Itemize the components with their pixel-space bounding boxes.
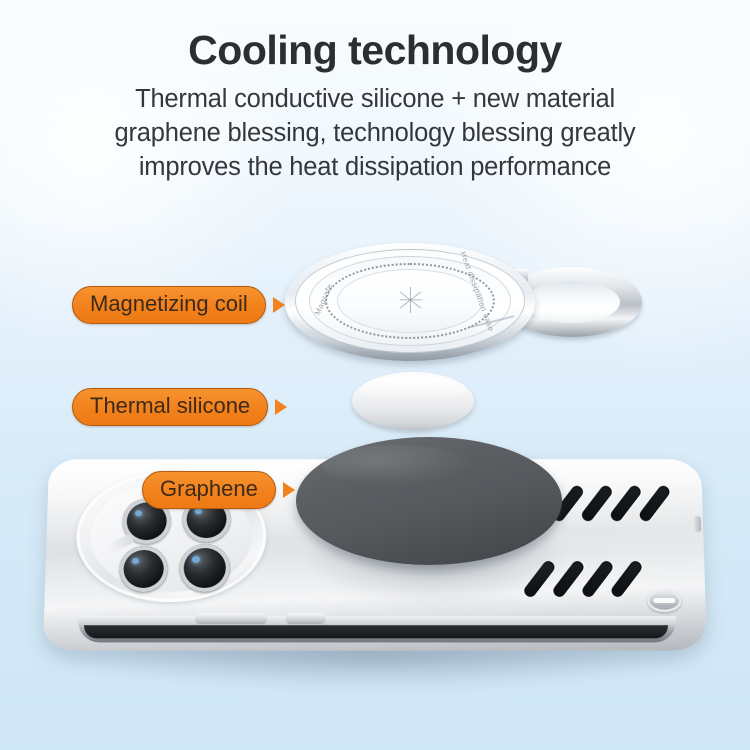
- power-button: [285, 613, 325, 624]
- vent-row-top: [562, 483, 661, 524]
- page-subtitle: Thermal conductive silicone + new materi…: [0, 83, 750, 185]
- pointer-triangle-right-icon: [275, 399, 287, 415]
- page-title: Cooling technology: [0, 26, 750, 74]
- subtitle-line-3: improves the heat dissipation performanc…: [32, 151, 718, 185]
- camera-lens-4: [179, 544, 230, 592]
- pointer-triangle-right-icon: [273, 297, 285, 313]
- case-side-nub: [694, 516, 701, 532]
- magsafe-ring-module: Magsafe Heat dissipation case: [285, 243, 640, 363]
- speaker-cutout: [647, 590, 682, 612]
- magsafe-disc: Magsafe Heat dissipation case: [285, 243, 535, 361]
- vent-slot: [580, 559, 615, 600]
- vent-slot: [609, 559, 644, 600]
- camera-lens-3: [119, 546, 168, 592]
- pointer-triangle-right-icon: [283, 482, 295, 498]
- subtitle-line-2: graphene blessing, technology blessing g…: [32, 117, 718, 151]
- volume-button: [195, 613, 268, 624]
- product-infographic: Cooling technology Thermal conductive si…: [0, 0, 750, 750]
- callout-label-thermal-silicone: Thermal silicone: [72, 388, 268, 426]
- vent-slot: [637, 484, 671, 524]
- callout-magnetizing-coil: Magnetizing coil: [72, 286, 285, 324]
- callout-thermal-silicone: Thermal silicone: [72, 388, 287, 426]
- header-block: Cooling technology Thermal conductive si…: [0, 26, 750, 185]
- thermal-silicone-disc: [352, 372, 474, 430]
- callout-graphene: Graphene: [142, 471, 295, 509]
- phone-screen-edge: [84, 625, 669, 638]
- vent-slot: [608, 484, 643, 524]
- graphene-disc: [296, 437, 562, 565]
- subtitle-line-1: Thermal conductive silicone + new materi…: [32, 83, 718, 117]
- callout-label-magnetizing-coil: Magnetizing coil: [72, 286, 266, 324]
- callout-label-graphene: Graphene: [142, 471, 276, 509]
- vent-slot: [580, 484, 615, 524]
- magsafe-logo-icon: [390, 287, 432, 313]
